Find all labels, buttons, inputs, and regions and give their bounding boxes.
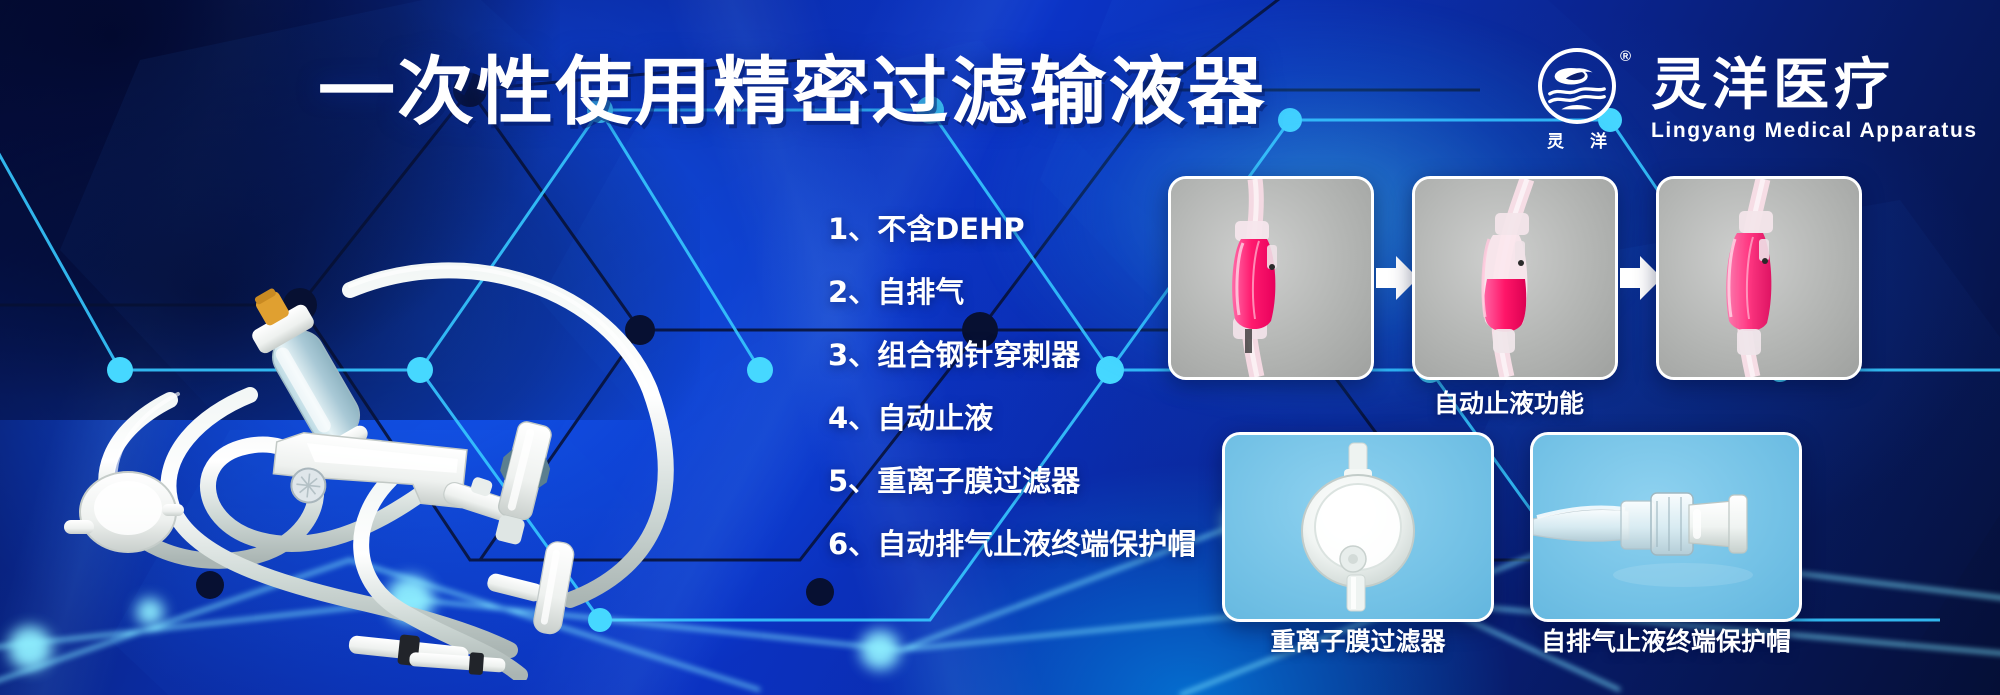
circular-seal-logo-icon bbox=[1538, 48, 1616, 124]
feature-label-6: 自动排气止液终端保护帽 bbox=[877, 527, 1196, 561]
detail-panel-filter bbox=[1222, 432, 1494, 622]
feature-item-4: 4、自动止液 bbox=[828, 401, 1196, 464]
feature-index-4: 4、 bbox=[828, 401, 877, 435]
filter-photo-3-illustration bbox=[1659, 179, 1859, 377]
ion-membrane-filter-illustration bbox=[1225, 435, 1491, 619]
feature-index-3: 3、 bbox=[828, 338, 877, 372]
vent-stop-protector-cap-illustration bbox=[1533, 435, 1799, 619]
feature-item-5: 5、重离子膜过滤器 bbox=[828, 464, 1196, 527]
seal-char-right: 洋 bbox=[1590, 127, 1607, 152]
sequence-panel-2 bbox=[1412, 176, 1618, 380]
feature-label-4: 自动止液 bbox=[877, 401, 993, 435]
filter-photo-2-illustration bbox=[1415, 179, 1615, 377]
feature-index-5: 5、 bbox=[828, 464, 877, 498]
feature-index-2: 2、 bbox=[828, 275, 877, 309]
seal-char-left: 灵 bbox=[1547, 127, 1564, 152]
product-photo bbox=[50, 180, 790, 680]
feature-index-6: 6、 bbox=[828, 527, 877, 561]
filter-photo-1-illustration bbox=[1171, 179, 1371, 377]
feature-label-5: 重离子膜过滤器 bbox=[877, 464, 1080, 498]
detail-caption-filter: 重离子膜过滤器 bbox=[1222, 627, 1494, 657]
feature-list: 1、不含DEHP 2、自排气 3、组合钢针穿刺器 4、自动止液 5、重离子膜过滤… bbox=[828, 212, 1196, 590]
registered-mark-icon: ® bbox=[1620, 48, 1631, 65]
detail-panel-cap bbox=[1530, 432, 1802, 622]
brand-seal-mark: ® 灵 洋 bbox=[1525, 48, 1629, 152]
page-title: 一次性使用精密过滤输液器 bbox=[318, 52, 1266, 132]
feature-label-3: 组合钢针穿刺器 bbox=[877, 338, 1080, 372]
feature-item-6: 6、自动排气止液终端保护帽 bbox=[828, 527, 1196, 590]
product-banner: 一次性使用精密过滤输液器 ® 灵 洋 灵洋医疗 bbox=[0, 0, 2000, 695]
feature-item-1: 1、不含DEHP bbox=[828, 212, 1196, 275]
feature-item-2: 2、自排气 bbox=[828, 275, 1196, 338]
feature-label-2: 自排气 bbox=[877, 275, 964, 309]
feature-label-1: 不含DEHP bbox=[877, 212, 1024, 246]
brand-name-en: Lingyang Medical Apparatus bbox=[1651, 118, 1978, 144]
infusion-set-illustration bbox=[50, 180, 790, 680]
sequence-caption: 自动止液功能 bbox=[1189, 389, 1829, 419]
detail-caption-cap: 自排气止液终端保护帽 bbox=[1530, 627, 1802, 657]
brand-text-block: 灵洋医疗 Lingyang Medical Apparatus bbox=[1651, 56, 1978, 144]
sequence-panel-3 bbox=[1656, 176, 1862, 380]
brand-logo: ® 灵 洋 灵洋医疗 Lingyang Medical Apparatus bbox=[1525, 48, 1978, 152]
feature-item-3: 3、组合钢针穿刺器 bbox=[828, 338, 1196, 401]
seal-bird-wave-icon bbox=[1542, 50, 1612, 122]
feature-index-1: 1、 bbox=[828, 212, 877, 246]
sequence-panel-1 bbox=[1168, 176, 1374, 380]
brand-name-cn: 灵洋医疗 bbox=[1651, 56, 1978, 116]
